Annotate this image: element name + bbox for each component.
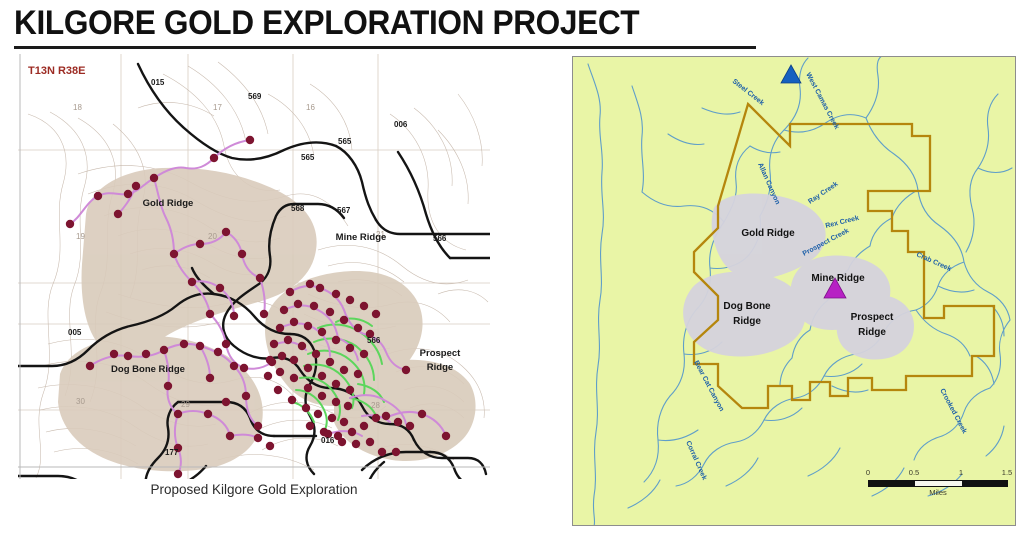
ridge-label-prospect-ridge-right-line1: Prospect [851, 312, 894, 323]
ridge-label-prospect-ridge-line2: Ridge [427, 362, 453, 373]
svg-text:28: 28 [371, 401, 380, 410]
scale-bar-ticks: 0 0.5 1 1.5 [864, 468, 1012, 480]
title-bar: KILGORE GOLD EXPLORATION PROJECT [0, 0, 1024, 50]
ridge-label-prospect-ridge-line1: Prospect [420, 348, 461, 359]
svg-text:20: 20 [208, 232, 217, 241]
svg-text:177: 177 [165, 448, 179, 457]
svg-text:19: 19 [76, 232, 85, 241]
svg-text:567: 567 [337, 206, 351, 215]
ridge-label-gold-ridge: Gold Ridge [143, 198, 194, 209]
ridge-label-prospect-ridge-right-line2: Ridge [858, 327, 886, 338]
ridge-label-dog-bone-ridge-right-line2: Ridge [733, 316, 761, 327]
scale-tick-1: 1 [959, 468, 963, 477]
svg-text:005: 005 [68, 328, 82, 337]
svg-text:566: 566 [433, 234, 447, 243]
ridge-label-dog-bone-ridge-right-line1: Dog Bone [723, 301, 771, 312]
dog-bone-ridge-area-right [683, 272, 805, 357]
svg-text:29: 29 [181, 400, 190, 409]
scale-bar-segment-light [915, 481, 962, 486]
svg-text:16: 16 [306, 103, 315, 112]
svg-text:565: 565 [301, 153, 315, 162]
svg-text:565: 565 [338, 137, 352, 146]
screenshot-root: KILGORE GOLD EXPLORATION PROJECT [0, 0, 1024, 534]
svg-text:566: 566 [367, 336, 381, 345]
svg-text:17: 17 [213, 103, 222, 112]
svg-text:015: 015 [151, 78, 165, 87]
right-map-panel: Steel Creek West Camas Creek Allan Canyo… [572, 56, 1016, 526]
ridge-label-gold-ridge-right: Gold Ridge [741, 228, 795, 239]
township-range-label: T13N R38E [28, 65, 85, 77]
title-underline-rule [14, 46, 756, 49]
scale-bar-graphic [868, 480, 1008, 487]
claim-boundary-overview-map: Steel Creek West Camas Creek Allan Canyo… [572, 56, 1016, 526]
left-map-caption: Proposed Kilgore Gold Exploration [18, 482, 490, 497]
scale-bar-units: Miles [864, 488, 1012, 497]
page-title: KILGORE GOLD EXPLORATION PROJECT [14, 4, 639, 43]
svg-text:016: 016 [321, 436, 335, 445]
scale-tick-0: 0 [866, 468, 870, 477]
proposed-exploration-map: T13N R38E 015 569 006 565 565 568 567 56… [18, 54, 490, 479]
scale-tick-0-5: 0.5 [909, 468, 919, 477]
svg-text:18: 18 [73, 103, 82, 112]
ridge-label-mine-ridge-right: Mine Ridge [811, 273, 865, 284]
ridge-label-mine-ridge: Mine Ridge [336, 232, 387, 243]
svg-text:006: 006 [394, 120, 408, 129]
left-map-panel: T13N R38E 015 569 006 565 565 568 567 56… [18, 54, 490, 526]
scale-bar: 0 0.5 1 1.5 Miles [864, 468, 1012, 502]
scale-tick-1-5: 1.5 [1002, 468, 1012, 477]
svg-text:30: 30 [76, 397, 85, 406]
ridge-label-dog-bone-ridge: Dog Bone Ridge [111, 364, 185, 375]
svg-text:569: 569 [248, 92, 262, 101]
svg-text:568: 568 [291, 204, 305, 213]
